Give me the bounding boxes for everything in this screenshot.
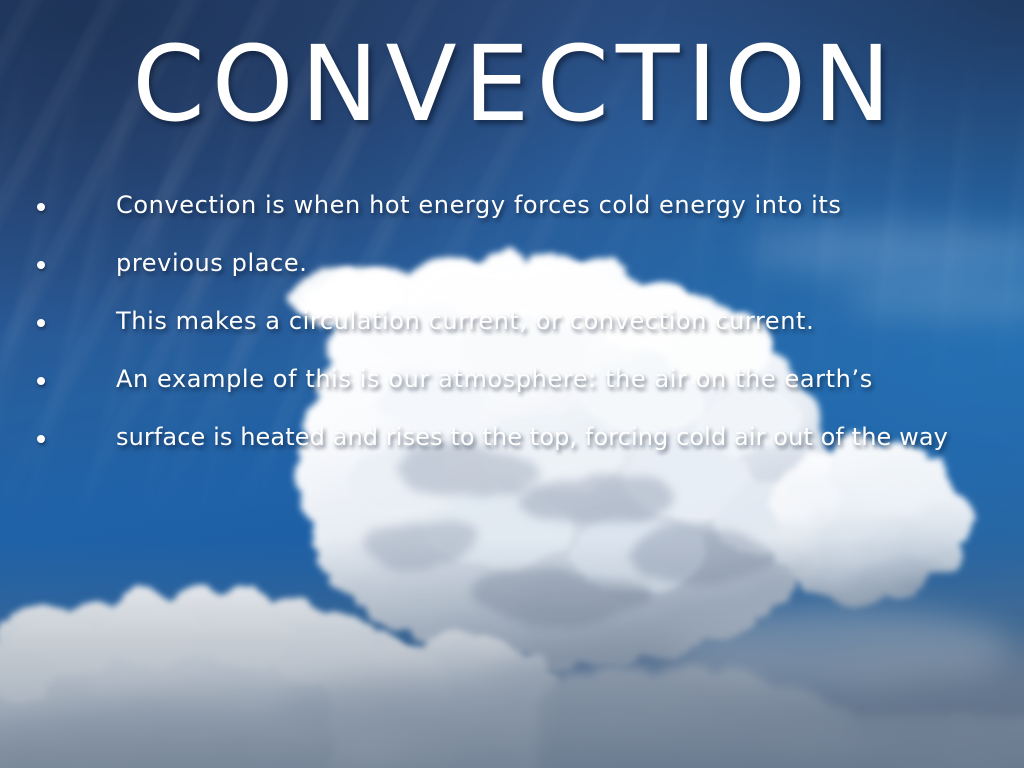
bullet-dot-icon	[37, 261, 45, 269]
bullet-text: An example of this is our atmosphere: th…	[116, 366, 873, 394]
slide-content: CONVECTION Convection is when hot energy…	[0, 0, 1024, 768]
bullet-text: This makes a circulation current, or con…	[116, 308, 814, 336]
bullet-list: Convection is when hot energy forces col…	[0, 192, 1024, 482]
slide-title: CONVECTION	[110, 32, 920, 136]
bullet-dot-icon	[37, 319, 45, 327]
list-item: An example of this is our atmosphere: th…	[0, 366, 1024, 424]
list-item: This makes a circulation current, or con…	[0, 308, 1024, 366]
list-item: Convection is when hot energy forces col…	[0, 192, 1024, 250]
list-item: surface is heated and rises to the top, …	[0, 424, 1024, 482]
list-item: previous place.	[0, 250, 1024, 308]
bullet-text: Convection is when hot energy forces col…	[116, 192, 841, 220]
bullet-dot-icon	[37, 435, 45, 443]
bullet-dot-icon	[37, 203, 45, 211]
bullet-dot-icon	[37, 377, 45, 385]
presentation-slide: CONVECTION Convection is when hot energy…	[0, 0, 1024, 768]
bullet-text: previous place.	[116, 250, 307, 278]
bullet-text: surface is heated and rises to the top, …	[116, 424, 948, 452]
